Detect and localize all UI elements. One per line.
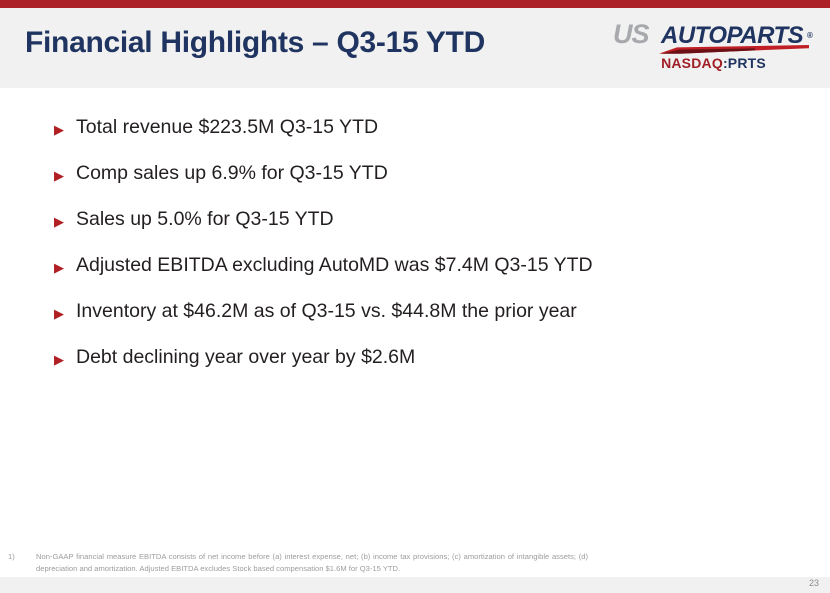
list-item-label: Debt declining year over year by $2.6M: [76, 344, 794, 370]
list-item: ▶ Inventory at $46.2M as of Q3-15 vs. $4…: [54, 298, 794, 344]
list-item-label: Adjusted EBITDA excluding AutoMD was $7.…: [76, 252, 794, 278]
ticker-exchange-label: NASDAQ: [661, 55, 723, 71]
footer-band: [0, 577, 830, 593]
list-item: ▶ Total revenue $223.5M Q3-15 YTD: [54, 114, 794, 160]
stock-ticker: NASDAQ:PRTS: [611, 55, 816, 71]
list-item: ▶ Comp sales up 6.9% for Q3-15 YTD: [54, 160, 794, 206]
list-item: ▶ Sales up 5.0% for Q3-15 YTD: [54, 206, 794, 252]
triangle-bullet-icon: ▶: [54, 344, 76, 370]
list-item-label: Inventory at $46.2M as of Q3-15 vs. $44.…: [76, 298, 794, 324]
footnote-text: Non-GAAP financial measure EBITDA consis…: [36, 551, 588, 574]
logo-wordmark: US AUTOPARTS ®: [611, 23, 816, 49]
company-logo: US AUTOPARTS ® NASDAQ:PRTS: [611, 23, 816, 79]
top-accent-bar: [0, 0, 830, 8]
footnote: 1) Non-GAAP financial measure EBITDA con…: [8, 551, 588, 574]
triangle-bullet-icon: ▶: [54, 114, 76, 140]
logo-us-text: US: [613, 21, 649, 47]
highlights-bullet-list: ▶ Total revenue $223.5M Q3-15 YTD ▶ Comp…: [54, 114, 794, 390]
list-item-label: Comp sales up 6.9% for Q3-15 YTD: [76, 160, 794, 186]
list-item-label: Sales up 5.0% for Q3-15 YTD: [76, 206, 794, 232]
triangle-bullet-icon: ▶: [54, 298, 76, 324]
triangle-bullet-icon: ▶: [54, 252, 76, 278]
page-number: 23: [809, 578, 819, 588]
ticker-symbol-label: :PRTS: [723, 55, 766, 71]
slide-canvas: Financial Highlights – Q3-15 YTD US AUTO…: [0, 0, 830, 593]
list-item: ▶ Adjusted EBITDA excluding AutoMD was $…: [54, 252, 794, 298]
triangle-bullet-icon: ▶: [54, 160, 76, 186]
list-item-label: Total revenue $223.5M Q3-15 YTD: [76, 114, 794, 140]
logo-swoosh-icon: [659, 45, 809, 54]
footnote-marker: 1): [8, 551, 36, 563]
triangle-bullet-icon: ▶: [54, 206, 76, 232]
page-title: Financial Highlights – Q3-15 YTD: [25, 26, 485, 60]
list-item: ▶ Debt declining year over year by $2.6M: [54, 344, 794, 390]
